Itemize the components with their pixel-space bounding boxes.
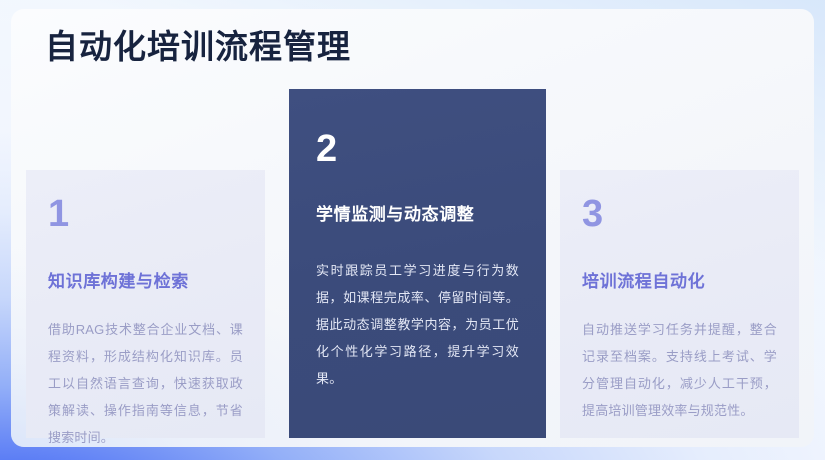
card-body-3: 自动推送学习任务并提醒，整合记录至档案。支持线上考试、学分管理自动化，减少人工干…: [582, 316, 777, 424]
feature-card-2-highlighted[interactable]: 2 学情监测与动态调整 实时跟踪员工学习进度与行为数据，如课程完成率、停留时间等…: [289, 89, 546, 438]
card-number-3: 3: [582, 194, 777, 234]
card-heading-1: 知识库构建与检索: [48, 270, 243, 294]
feature-card-3[interactable]: 3 培训流程自动化 自动推送学习任务并提醒，整合记录至档案。支持线上考试、学分管…: [560, 170, 799, 438]
card-number-1: 1: [48, 194, 243, 234]
card-body-2: 实时跟踪员工学习进度与行为数据，如课程完成率、停留时间等。据此动态调整教学内容，…: [316, 257, 519, 392]
page-title: 自动化培训流程管理: [45, 25, 351, 69]
card-heading-2: 学情监测与动态调整: [316, 203, 519, 227]
slide-canvas: 自动化培训流程管理 1 知识库构建与检索 借助RAG技术整合企业文档、课程资料，…: [0, 0, 825, 460]
content-panel: 自动化培训流程管理 1 知识库构建与检索 借助RAG技术整合企业文档、课程资料，…: [11, 9, 814, 447]
card-heading-3: 培训流程自动化: [582, 270, 777, 294]
feature-card-1[interactable]: 1 知识库构建与检索 借助RAG技术整合企业文档、课程资料，形成结构化知识库。员…: [26, 170, 265, 438]
card-number-2: 2: [316, 129, 519, 169]
card-body-1: 借助RAG技术整合企业文档、课程资料，形成结构化知识库。员工以自然语言查询，快速…: [48, 316, 243, 447]
